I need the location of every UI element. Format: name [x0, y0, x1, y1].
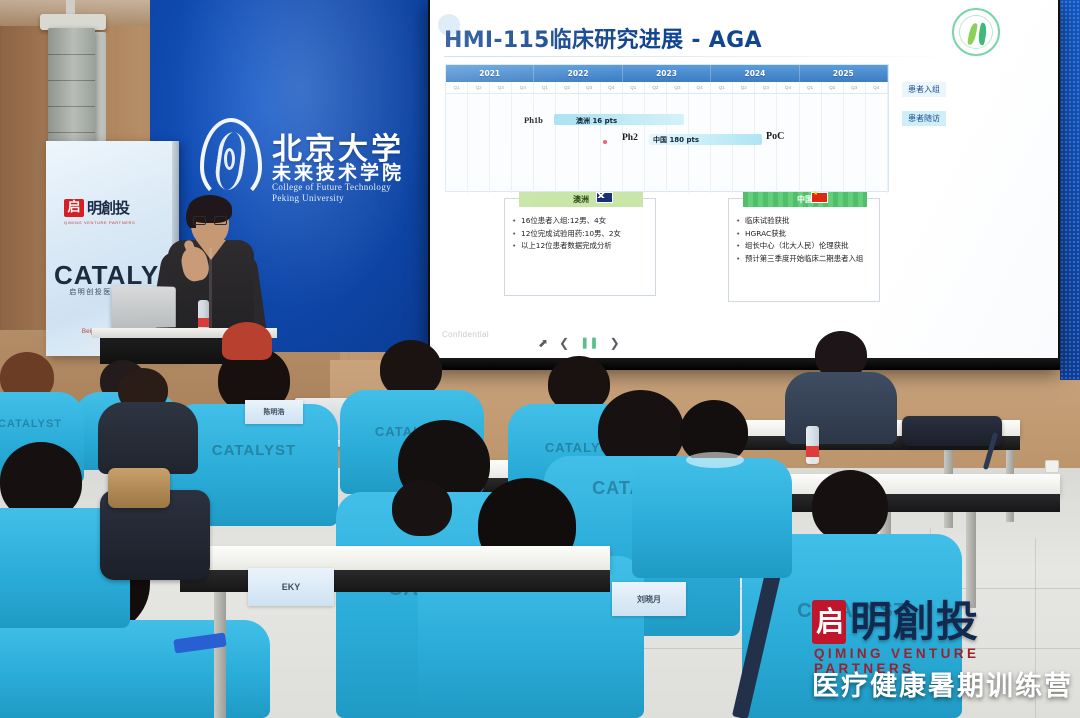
list-item: 临床试验获批 — [745, 215, 873, 228]
list-item: 以上12位患者数据完成分析 — [521, 240, 649, 253]
gantt-quarter: Q1 — [446, 82, 468, 93]
list-item: 12位完成试验用药:10男、2女 — [521, 228, 649, 241]
desk-leg — [966, 512, 976, 608]
australia-flag-icon — [596, 192, 613, 203]
conference-room-photo: 北京大学 未来技术学院 College of Future Technology… — [0, 0, 1080, 718]
gantt-bar-text-ph2: 中国 180 pts — [653, 135, 699, 145]
gantt-grid-column — [623, 94, 645, 193]
gantt-quarter: Q4 — [777, 82, 799, 93]
australia-box: 澳洲 16位患者入组:12男、4女 12位完成试验用药:10男、2女 以上12位… — [504, 198, 656, 296]
desk — [180, 546, 610, 570]
name-card: EKY — [248, 568, 334, 606]
slide-title: HMI-115临床研究进展 - AGA — [444, 22, 762, 54]
list-item: 组长中心（北大人民）伦理获批 — [745, 240, 873, 253]
blue-wall-right-texture — [1060, 0, 1080, 380]
gantt-bar-ph1b — [554, 114, 684, 125]
qiming-logo-banner: 启 明創投 — [64, 199, 160, 219]
desk-leg — [214, 592, 226, 718]
shirt-logo: CATALYST — [0, 418, 84, 430]
qiming-logo-mark: 启 — [64, 199, 84, 217]
pause-icon[interactable]: ❚❚ — [580, 336, 598, 349]
list-item: 预计第三季度开始临床二期患者入组 — [745, 253, 873, 266]
qiming-logo-subtitle: QIMING VENTURE PARTNERS — [64, 220, 135, 225]
gantt-quarter: Q1 — [711, 82, 733, 93]
gantt-year: 2024 — [711, 65, 799, 82]
gantt-year: 2025 — [800, 65, 888, 82]
slide-title-divider — [444, 56, 964, 57]
gantt-quarter: Q4 — [689, 82, 711, 93]
gantt-year: 2022 — [534, 65, 622, 82]
qiming-name-cn: 明創投 — [850, 598, 979, 646]
gantt-grid-column — [556, 94, 578, 193]
gantt-quarter: Q2 — [733, 82, 755, 93]
handbag — [108, 468, 170, 508]
gantt-marker-dot — [603, 140, 607, 144]
presenter-laptop — [112, 285, 176, 329]
company-leaf-logo-icon — [952, 8, 1000, 56]
china-flag-icon — [811, 192, 828, 203]
gantt-quarter: Q1 — [800, 82, 822, 93]
list-item: 16位患者入组:12男、4女 — [521, 215, 649, 228]
glasses-icon — [193, 216, 227, 225]
gantt-grid-column — [777, 94, 799, 193]
gantt-year: 2023 — [623, 65, 711, 82]
slide-player-controls[interactable]: ⬈ ❮ ❚❚ ❯ — [538, 336, 620, 349]
gantt-grid-column — [822, 94, 844, 193]
gantt-grid-column — [866, 94, 888, 193]
gantt-quarter: Q2 — [645, 82, 667, 93]
gantt-bar-text-ph1b: 澳洲 16 pts — [576, 116, 617, 126]
gantt-poc-label: PoC — [766, 131, 784, 142]
desk-front-panel — [180, 570, 610, 592]
china-box-header: 中国 — [743, 192, 867, 207]
gantt-year: 2021 — [446, 65, 534, 82]
confidential-marker: Confidential — [442, 330, 489, 339]
gantt-phase-label: Ph1b — [524, 115, 543, 125]
gantt-grid-column — [800, 94, 822, 193]
gantt-grid-column — [468, 94, 490, 193]
name-card: 刘晓月 — [612, 582, 686, 616]
gantt-quarter: Q4 — [866, 82, 888, 93]
gantt-quarter: Q2 — [468, 82, 490, 93]
next-slide-icon[interactable]: ❯ — [610, 337, 620, 349]
water-bottle — [806, 426, 819, 464]
gantt-quarter: Q4 — [512, 82, 534, 93]
laptop-bag — [902, 416, 1002, 446]
gantt-grid-column — [534, 94, 556, 193]
gantt-quarter: Q3 — [579, 82, 601, 93]
gantt-grid-column — [579, 94, 601, 193]
gantt-chart: 2021 2022 2023 2024 2025 Q1Q2Q3Q4Q1Q2Q3Q… — [445, 64, 889, 192]
pku-name-en: College of Future TechnologyPeking Unive… — [272, 182, 391, 204]
share-icon[interactable]: ⬈ — [538, 337, 548, 349]
gantt-year-header: 2021 2022 2023 2024 2025 — [446, 65, 888, 82]
pku-college-cn: 未来技术学院 — [272, 158, 404, 185]
gantt-quarter: Q3 — [844, 82, 866, 93]
gantt-grid-column — [844, 94, 866, 193]
peking-university-emblem — [200, 118, 262, 200]
legend-chip-enrollment: 患者入组 — [902, 82, 946, 97]
gantt-quarter: Q3 — [490, 82, 512, 93]
australia-box-header: 澳洲 — [519, 192, 643, 207]
prev-slide-icon[interactable]: ❮ — [559, 337, 569, 349]
gantt-quarter-header: Q1Q2Q3Q4Q1Q2Q3Q4Q1Q2Q3Q4Q1Q2Q3Q4Q1Q2Q3Q4 — [446, 82, 888, 94]
gantt-quarter: Q2 — [822, 82, 844, 93]
qiming-logo-text: 明創投 — [87, 199, 129, 217]
china-box: 中国 临床试验获批 HGRAC获批 组长中心（北大人民）伦理获批 预计第三季度开… — [728, 198, 880, 302]
gantt-phase-label: Ph2 — [622, 133, 638, 143]
gantt-quarter: Q4 — [601, 82, 623, 93]
qiming-mark: 启 — [812, 600, 846, 644]
gantt-quarter: Q1 — [623, 82, 645, 93]
presentation-slide[interactable]: HMI-115临床研究进展 - AGA 2021 2022 2023 2024 … — [430, 0, 1058, 358]
name-card: 陈明浩 — [245, 400, 303, 424]
gantt-quarter: Q1 — [534, 82, 556, 93]
screen-bezel — [428, 358, 1060, 370]
gantt-grid-column — [512, 94, 534, 193]
gantt-quarter: Q3 — [755, 82, 777, 93]
list-item: HGRAC获批 — [745, 228, 873, 241]
event-watermark: 启 明創投 QIMING VENTURE PARTNERS 医疗健康暑期训练营 — [812, 600, 1074, 700]
gantt-quarter: Q3 — [667, 82, 689, 93]
wall-outlet — [1045, 460, 1059, 473]
gantt-grid-column — [490, 94, 512, 193]
gantt-grid-column — [446, 94, 468, 193]
legend-chip-followup: 患者随访 — [902, 111, 946, 126]
event-name-cn: 医疗健康暑期训练营 — [812, 664, 1073, 703]
gantt-quarter: Q2 — [556, 82, 578, 93]
